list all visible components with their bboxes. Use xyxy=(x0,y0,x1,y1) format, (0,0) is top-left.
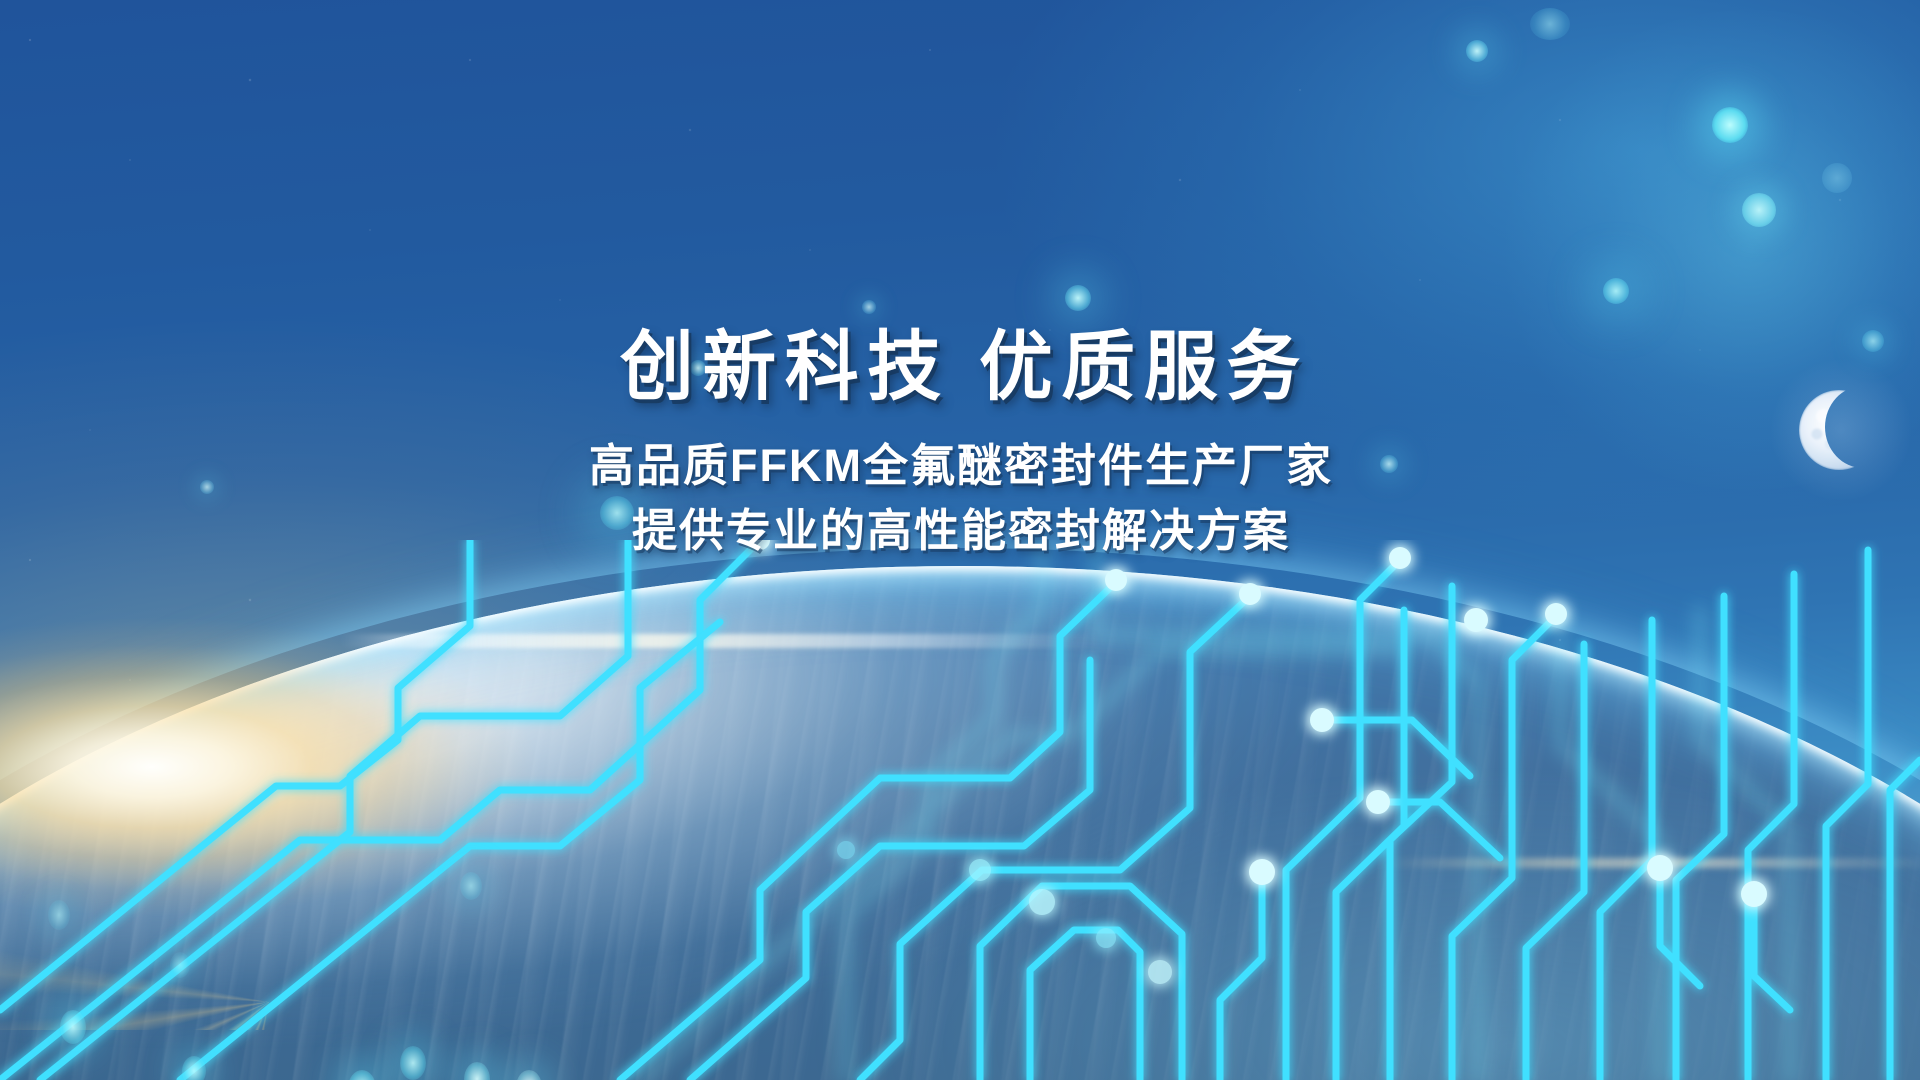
banner-copy: 创新科技 优质服务 高品质FFKM全氟醚密封件生产厂家 提供专业的高性能密封解决… xyxy=(0,330,1920,561)
page-title: 创新科技 优质服务 xyxy=(29,330,1891,406)
hero-banner: 创新科技 优质服务 高品质FFKM全氟醚密封件生产厂家 提供专业的高性能密封解决… xyxy=(0,0,1920,1080)
subtitle-line-1: 高品质FFKM全氟醚密封件生产厂家 xyxy=(0,436,1920,495)
subtitle-line-2: 提供专业的高性能密封解决方案 xyxy=(0,501,1920,560)
